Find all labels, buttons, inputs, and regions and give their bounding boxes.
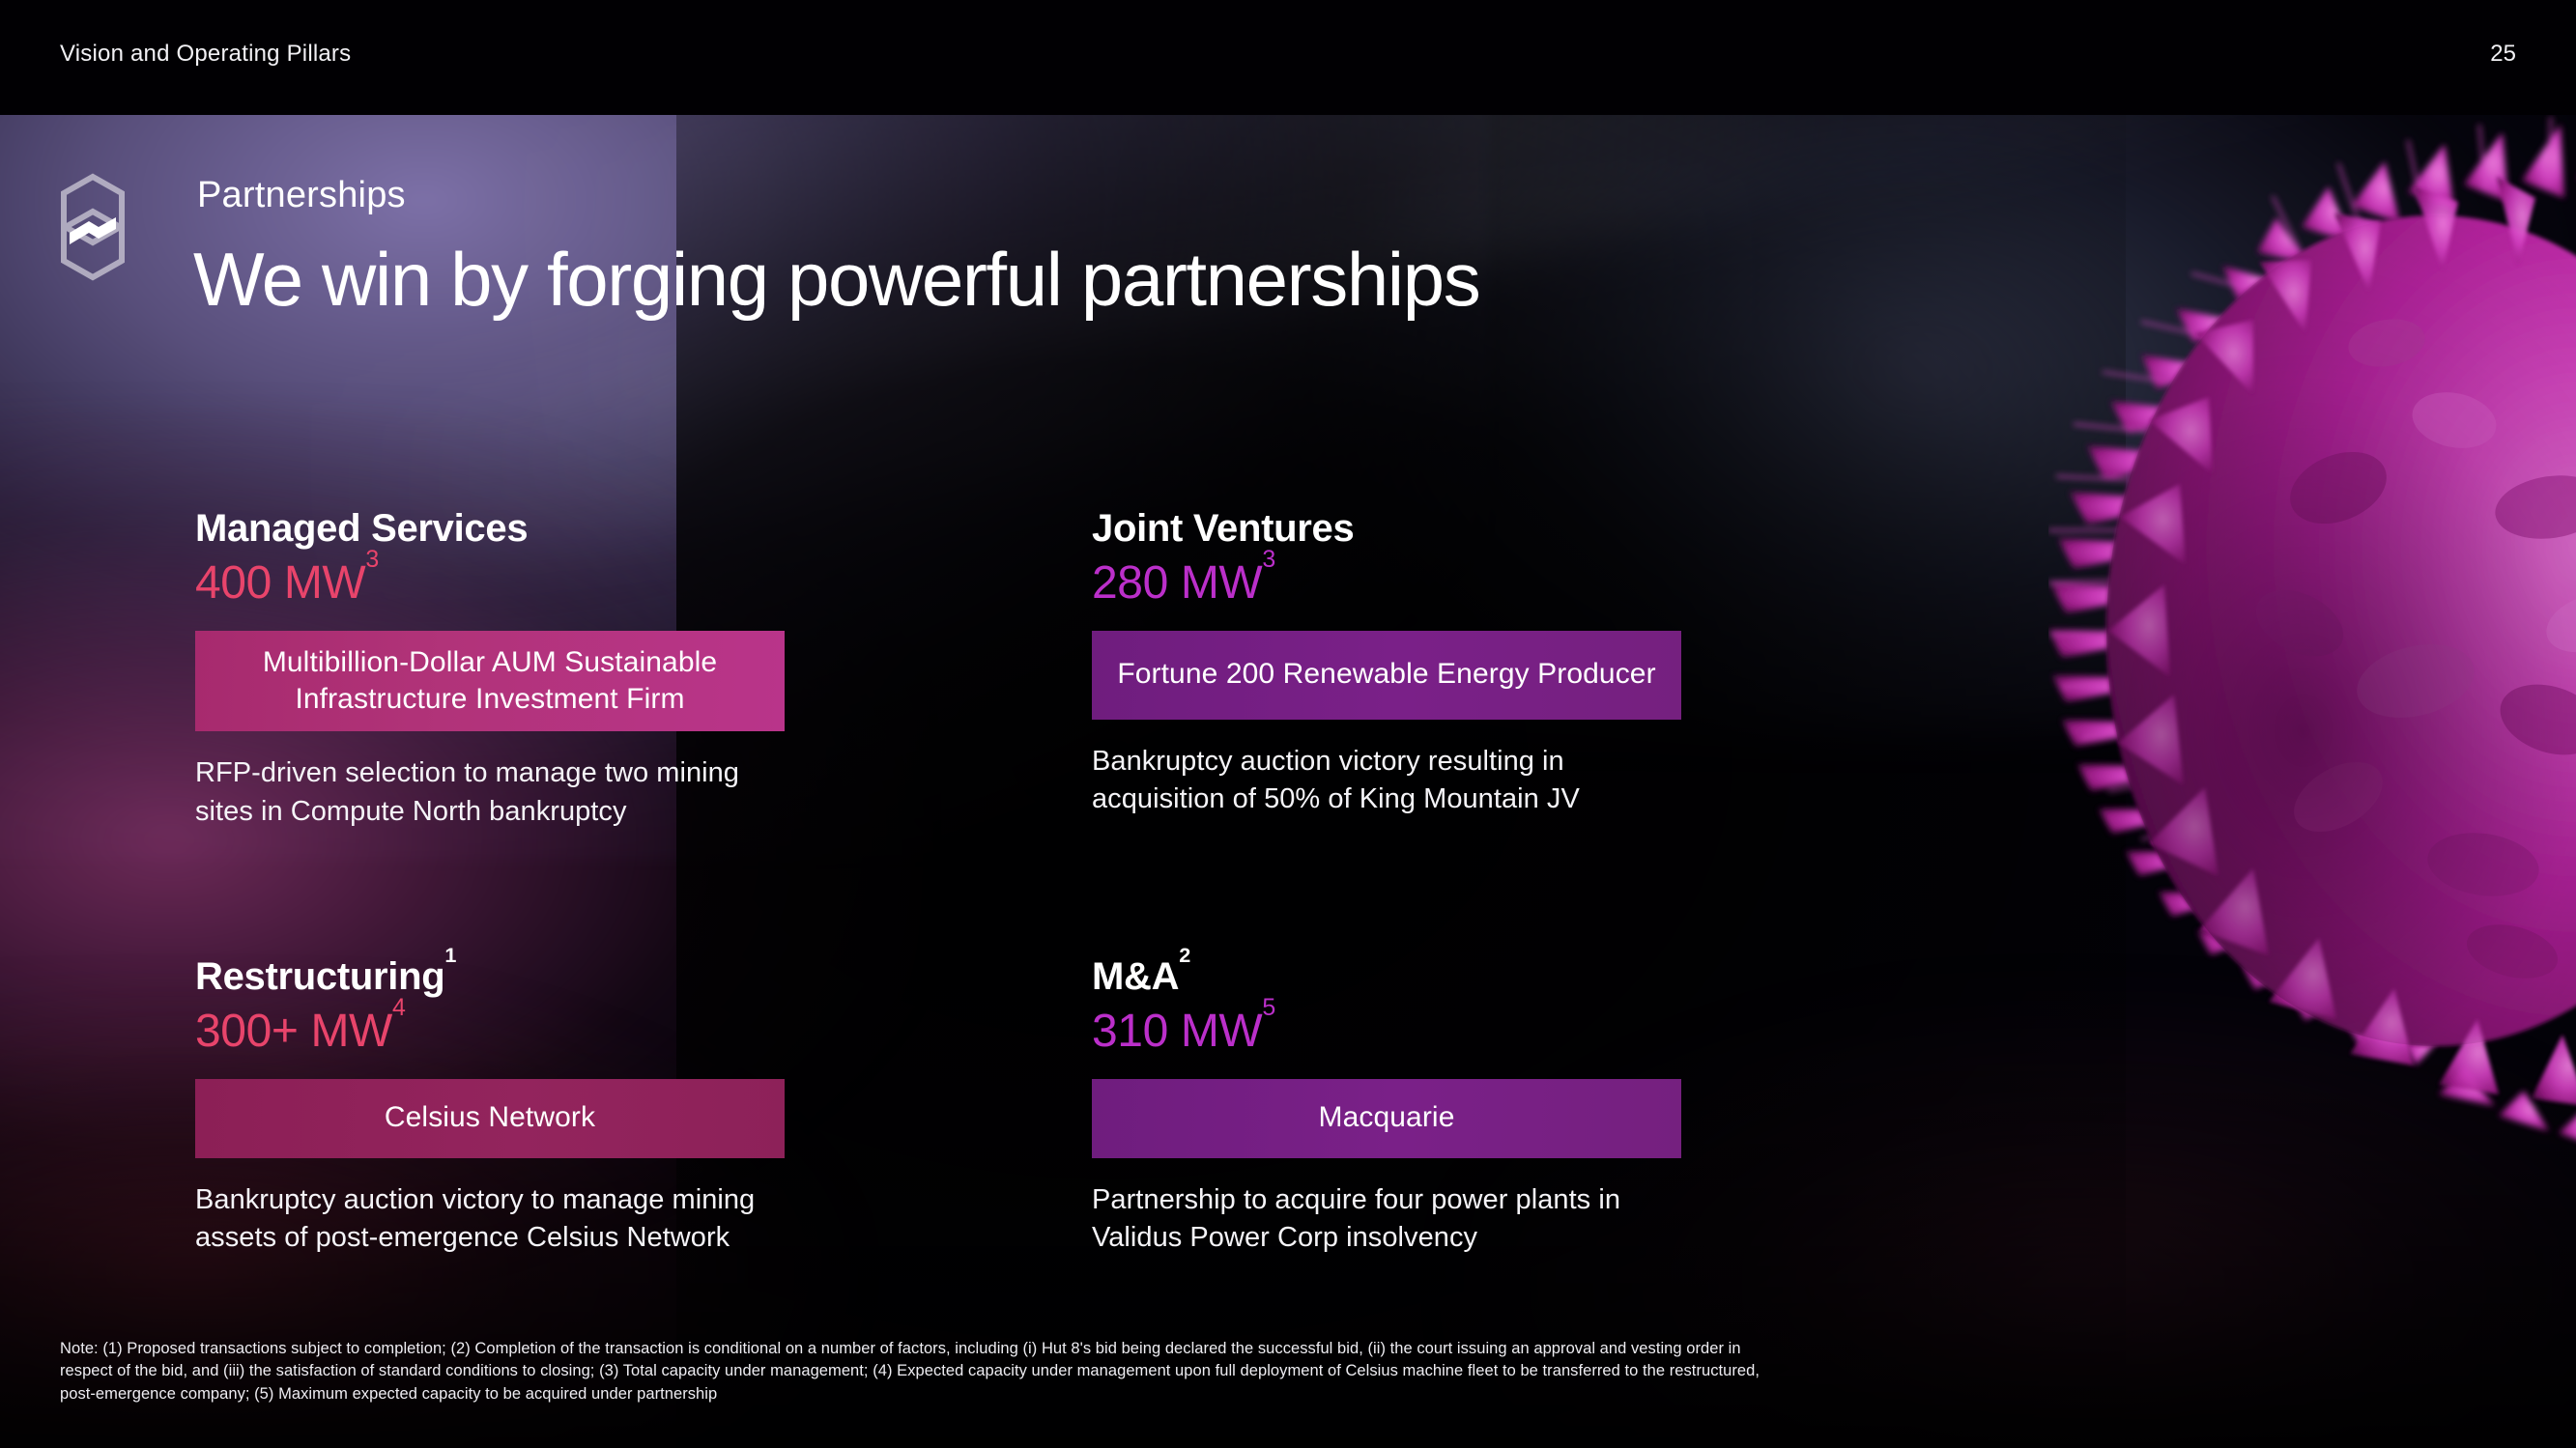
card-title-text: Managed Services <box>195 507 528 550</box>
page-number: 25 <box>2490 41 2516 68</box>
card-title: M&A2 <box>1092 955 1681 999</box>
card-metric-footnote-ref: 4 <box>392 994 405 1021</box>
card-badge[interactable]: Multibillion-Dollar AUM Sustainable Infr… <box>195 631 785 732</box>
card-description: Partnership to acquire four power plants… <box>1092 1181 1672 1258</box>
slide-root: Vision and Operating Pillars 25 <box>0 0 2576 1448</box>
slide-topbar: Vision and Operating Pillars 25 <box>0 0 2576 115</box>
card-metric-value: 310 MW <box>1092 1006 1262 1057</box>
card-title-footnote-ref: 2 <box>1179 943 1190 967</box>
partnership-card-joint-ventures: Joint Ventures 280 MW3 Fortune 200 Renew… <box>1092 507 1681 818</box>
card-title: Restructuring1 <box>195 955 785 999</box>
card-metric-footnote-ref: 3 <box>1262 546 1274 573</box>
card-metric-footnote-ref: 5 <box>1262 994 1274 1021</box>
partnership-card-restructuring: Restructuring1 300+ MW4 Celsius Network … <box>195 955 785 1257</box>
card-title-text: Restructuring <box>195 955 444 998</box>
partnership-card-managed-services: Managed Services 400 MW3 Multibillion-Do… <box>195 507 785 831</box>
card-title-text: M&A <box>1092 955 1179 998</box>
card-badge[interactable]: Celsius Network <box>195 1079 785 1158</box>
slide-content: Partnerships We win by forging powerful … <box>0 115 2576 1448</box>
footnote-text: Note: (1) Proposed transactions subject … <box>60 1338 1760 1405</box>
card-title-text: Joint Ventures <box>1092 507 1354 550</box>
section-title: Vision and Operating Pillars <box>60 41 351 68</box>
card-metric: 310 MW5 <box>1092 1007 1681 1058</box>
card-metric: 300+ MW4 <box>195 1007 785 1058</box>
card-badge[interactable]: Macquarie <box>1092 1079 1681 1158</box>
partnership-grid: Managed Services 400 MW3 Multibillion-Do… <box>0 115 2576 1448</box>
card-title-footnote-ref: 1 <box>444 943 456 967</box>
card-metric-value: 280 MW <box>1092 557 1262 609</box>
card-description: RFP-driven selection to manage two minin… <box>195 754 775 831</box>
card-metric: 280 MW3 <box>1092 558 1681 610</box>
card-metric-footnote-ref: 3 <box>365 546 378 573</box>
card-badge[interactable]: Fortune 200 Renewable Energy Producer <box>1092 631 1681 720</box>
card-title: Joint Ventures <box>1092 507 1681 551</box>
card-metric: 400 MW3 <box>195 558 785 610</box>
partnership-card-mergers-acquisitions: M&A2 310 MW5 Macquarie Partnership to ac… <box>1092 955 1681 1257</box>
card-title: Managed Services <box>195 507 785 551</box>
card-metric-value: 400 MW <box>195 557 365 609</box>
card-description: Bankruptcy auction victory resulting in … <box>1092 743 1672 819</box>
card-metric-value: 300+ MW <box>195 1006 392 1057</box>
card-description: Bankruptcy auction victory to manage min… <box>195 1181 775 1258</box>
